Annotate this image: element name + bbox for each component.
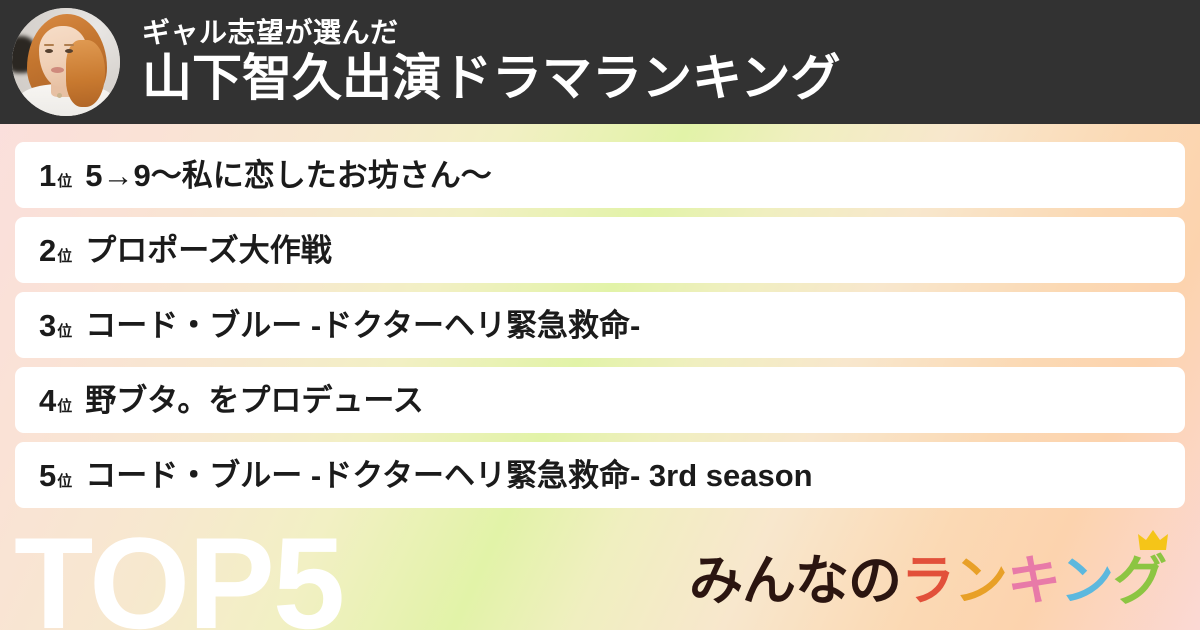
rank-number: 5 (39, 460, 56, 491)
top5-label: TOP5 (14, 518, 343, 630)
rank-unit: 位 (57, 399, 72, 414)
rank-number: 1 (39, 160, 56, 191)
rank-badge: 5 位 (39, 460, 72, 491)
page-title: 山下智久出演ドラマランキング (142, 50, 841, 106)
avatar-eye-right (65, 49, 73, 53)
rank-badge: 4 位 (39, 385, 72, 416)
logo-char-gu: グ (1113, 554, 1166, 608)
rank-unit: 位 (57, 174, 72, 189)
logo-char-ra: ラ (901, 554, 954, 608)
avatar-eyebrow-right (64, 44, 74, 46)
logo-char-ki: キ (1007, 554, 1060, 608)
rank-number: 4 (39, 385, 56, 416)
header-text-block: ギャル志望が選んだ 山下智久出演ドラマランキング (142, 18, 841, 106)
rank-title: コード・ブルー -ドクターヘリ緊急救命- (85, 310, 640, 341)
rank-badge: 1 位 (39, 160, 72, 191)
table-row[interactable]: 5 位 コード・ブルー -ドクターヘリ緊急救命- 3rd season (15, 442, 1185, 508)
site-logo[interactable]: みんなの ラ ン キ ン グ (689, 554, 1166, 608)
avatar (12, 8, 120, 116)
logo-char-n2: ン (1060, 554, 1113, 608)
table-row[interactable]: 4 位 野ブタ。をプロデュース (15, 367, 1185, 433)
rank-title: 5→9〜私に恋したお坊さん〜 (85, 160, 491, 191)
rank-title: 野ブタ。をプロデュース (85, 385, 424, 416)
logo-char-n1: ン (954, 554, 1007, 608)
crown-icon (1138, 530, 1168, 552)
avatar-eyebrow-left (44, 44, 54, 46)
rank-title: プロポーズ大作戦 (85, 235, 331, 266)
table-row[interactable]: 1 位 5→9〜私に恋したお坊さん〜 (15, 142, 1185, 208)
logo-text-minnano: みんなの (689, 554, 901, 608)
rank-unit: 位 (57, 474, 72, 489)
rank-title: コード・ブルー -ドクターヘリ緊急救命- 3rd season (85, 460, 812, 491)
logo-char-gu-text: グ (1113, 554, 1166, 608)
rank-badge: 2 位 (39, 235, 72, 266)
table-row[interactable]: 2 位 プロポーズ大作戦 (15, 217, 1185, 283)
table-row[interactable]: 3 位 コード・ブルー -ドクターヘリ緊急救命- (15, 292, 1185, 358)
rank-number: 2 (39, 235, 56, 266)
rank-unit: 位 (57, 249, 72, 264)
rank-badge: 3 位 (39, 310, 72, 341)
rank-number: 3 (39, 310, 56, 341)
rank-unit: 位 (57, 324, 72, 339)
header-bar: ギャル志望が選んだ 山下智久出演ドラマランキング (0, 0, 1200, 124)
header-subtitle: ギャル志望が選んだ (142, 18, 841, 47)
ranking-poster: ギャル志望が選んだ 山下智久出演ドラマランキング 1 位 5→9〜私に恋したお坊… (0, 0, 1200, 630)
ranking-list: 1 位 5→9〜私に恋したお坊さん〜 2 位 プロポーズ大作戦 3 位 コード・… (15, 142, 1185, 517)
